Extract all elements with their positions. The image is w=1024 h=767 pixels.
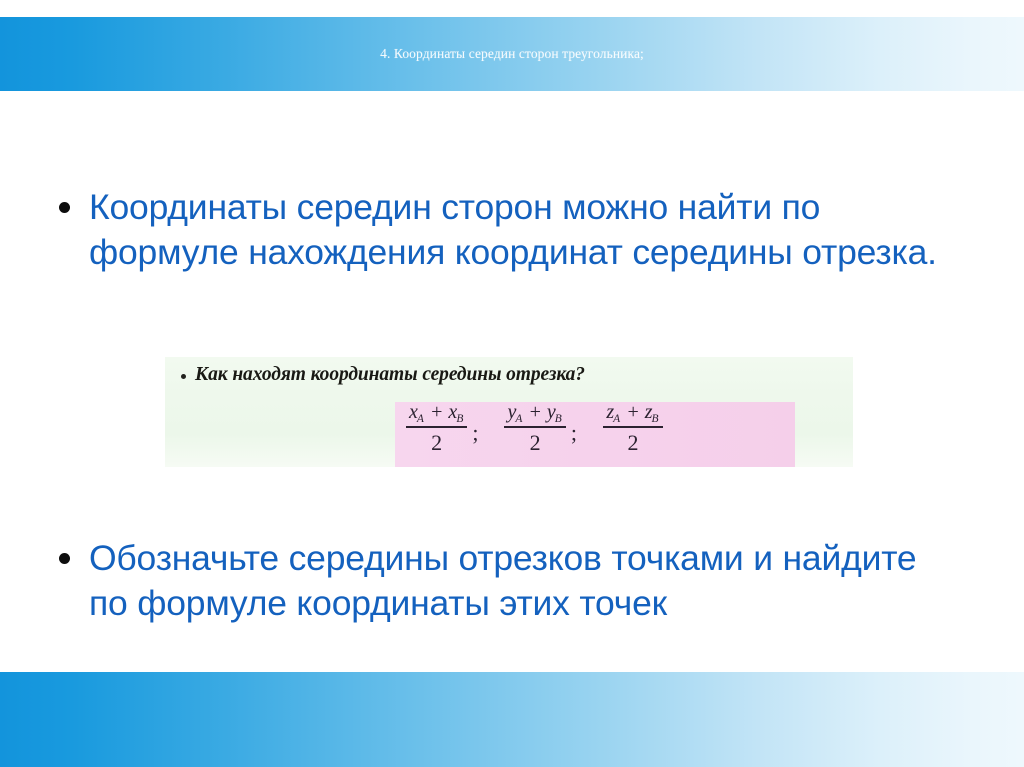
formula-y-numerator: yA + yB [504, 402, 565, 426]
formula-band: xA + xB 2 ; yA + y [395, 402, 795, 467]
formula-x: xA + xB 2 ; [405, 402, 487, 456]
formula-y-var2-sub: B [555, 413, 562, 425]
page-title: 4. Координаты середин сторон треугольник… [0, 17, 1024, 91]
bullet-dot-icon [55, 185, 89, 231]
formula-x-separator: ; [468, 422, 487, 444]
formula-x-var2-sub: B [456, 413, 463, 425]
bullet-item-2-text: Обозначьте середины отрезков точками и н… [89, 536, 951, 626]
formula-z-operator: + [626, 401, 640, 423]
formula-x-numerator: xA + xB [406, 402, 467, 426]
formula-y-operator: + [528, 401, 542, 423]
formula-y-var1-sub: A [515, 413, 522, 425]
formula-x-fraction: xA + xB 2 [406, 402, 467, 456]
bullet-item-1-text: Координаты середин сторон можно найти по… [89, 185, 951, 275]
embedded-figure-image: Как находят координаты середины отрезка?… [165, 357, 853, 467]
bullet-dot-icon [55, 536, 89, 582]
bottom-banner [0, 672, 1024, 767]
formula-x-operator: + [430, 401, 444, 423]
formula-z-numerator: zA + zB [603, 402, 662, 426]
top-banner: 4. Координаты середин сторон треугольник… [0, 17, 1024, 91]
formula-z-denominator: 2 [627, 428, 638, 456]
slide-content-area: Координаты середин сторон можно найти по… [0, 91, 1024, 672]
formula-y-fraction: yA + yB 2 [504, 402, 565, 456]
slide-canvas: 4. Координаты середин сторон треугольник… [0, 0, 1024, 767]
formula-y-denominator: 2 [530, 428, 541, 456]
formula-x-denominator: 2 [431, 428, 442, 456]
formula-x-var1-sub: A [417, 413, 424, 425]
formula-z-var2-sub: B [651, 413, 658, 425]
figure-caption-row: Как находят координаты середины отрезка? [181, 364, 585, 386]
figure-caption-text: Как находят координаты середины отрезка? [195, 364, 585, 386]
formula-y: yA + yB 2 ; [503, 402, 585, 456]
bullet-item-2: Обозначьте середины отрезков точками и н… [55, 536, 955, 626]
formula-z: zA + zB 2 [602, 402, 664, 456]
figure-bullet-dot-icon [181, 368, 195, 383]
formula-z-var1-sub: A [613, 413, 620, 425]
formula-z-fraction: zA + zB 2 [603, 402, 663, 456]
bullet-item-1: Координаты середин сторон можно найти по… [55, 185, 955, 275]
formula-y-separator: ; [567, 422, 586, 444]
